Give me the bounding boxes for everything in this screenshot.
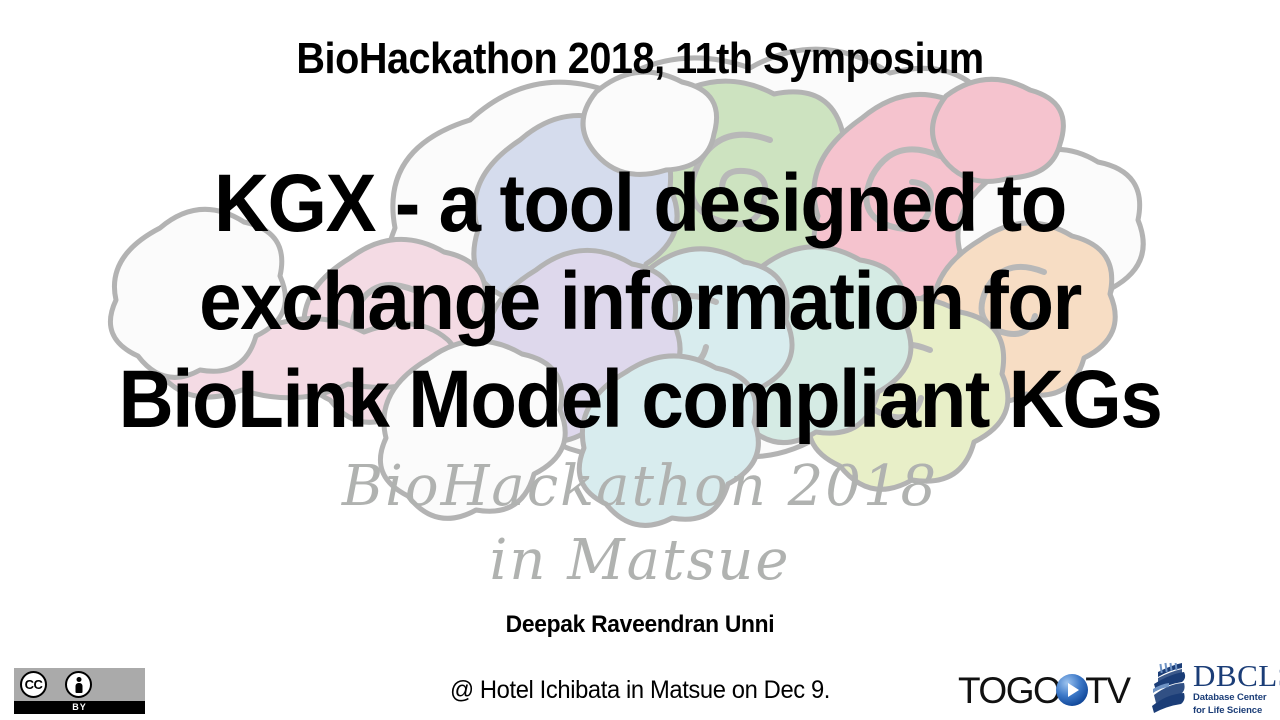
creative-commons-by-badge[interactable]: CC BY [14,668,145,714]
cc-icon: CC [20,671,47,698]
event-header: BioHackathon 2018, 11th Symposium [64,36,1216,82]
dbcls-text: DBCLS Database Center for Life Science [1193,660,1280,716]
dbcls-helix-icon [1148,662,1188,714]
cc-badge-label: BY [14,701,145,714]
page-title: KGX - a tool designed to exchange inform… [0,155,1280,449]
togotv-word-left: TOGO [958,672,1060,709]
cc-badge-icons: CC [14,668,145,701]
togotv-word-right: TV [1085,672,1129,709]
dbcls-logo[interactable]: DBCLS Database Center for Life Science [1148,660,1280,716]
dbcls-tagline-line-2: for Life Science [1193,706,1280,717]
attribution-person-icon [65,671,92,698]
dbcls-name: DBCLS [1193,660,1280,691]
dbcls-tagline-line-1: Database Center [1193,693,1280,704]
togotv-wordmark: TOGO TV [958,672,1130,709]
subtitle-line-1: BioHackathon 2018 [0,450,1280,524]
title-line-3: BioLink Model compliant KGs [45,351,1235,449]
presentation-slide: BioHackathon 2018, 11th Symposium KGX - … [0,0,1280,720]
title-line-1: KGX - a tool designed to [45,155,1235,253]
play-icon [1056,674,1088,706]
togotv-logo[interactable]: TOGO TV [958,668,1130,712]
event-subtitle: BioHackathon 2018 in Matsue [0,450,1280,598]
subtitle-line-2: in Matsue [0,524,1280,598]
title-line-2: exchange information for [45,253,1235,351]
author-name: Deepak Raveendran Unni [32,611,1248,639]
